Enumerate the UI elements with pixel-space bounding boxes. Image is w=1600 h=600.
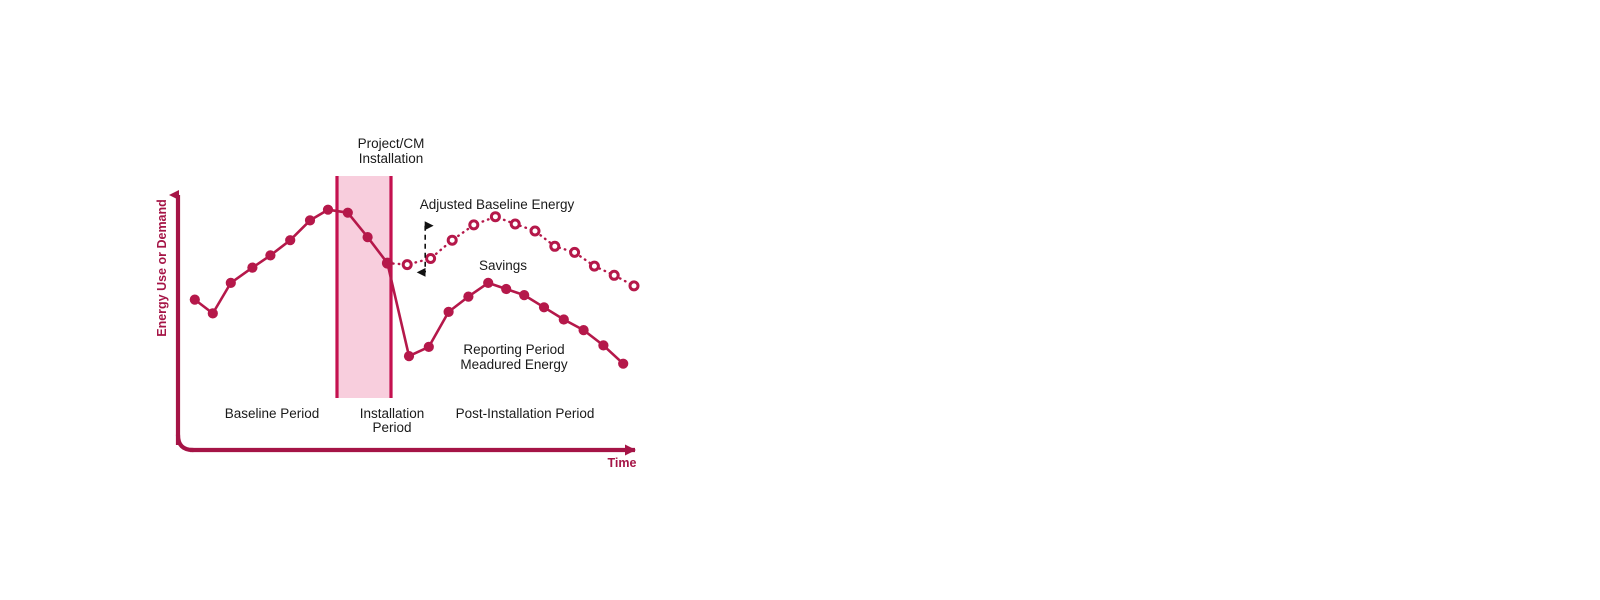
adjusted-baseline-markers xyxy=(383,213,638,290)
data-point xyxy=(247,263,257,273)
data-point xyxy=(519,290,529,300)
data-point xyxy=(226,278,236,288)
installation-period-label-line1: Installation xyxy=(360,406,425,421)
data-point xyxy=(598,340,608,350)
installation-period-label-line2: Period xyxy=(372,420,411,435)
post-installation-period-label: Post-Installation Period xyxy=(456,406,595,421)
data-point xyxy=(579,325,589,335)
y-axis-label: Energy Use or Demand xyxy=(155,199,169,337)
data-point xyxy=(491,213,499,221)
data-point xyxy=(208,308,218,318)
project-cm-label-line2: Installation xyxy=(359,151,424,166)
data-point xyxy=(501,284,511,294)
data-point xyxy=(539,302,549,312)
data-point xyxy=(265,250,275,260)
data-point xyxy=(531,227,539,235)
reporting-energy-label-line2: Meadured Energy xyxy=(460,357,568,372)
data-point xyxy=(404,351,414,361)
data-point xyxy=(427,255,435,263)
data-point xyxy=(483,278,493,288)
data-point xyxy=(285,235,295,245)
data-point xyxy=(424,342,434,352)
data-point xyxy=(444,307,454,317)
measured-energy-line xyxy=(195,210,623,364)
data-point xyxy=(610,271,618,279)
data-point xyxy=(618,359,628,369)
project-cm-label-line1: Project/CM xyxy=(358,136,425,151)
data-point xyxy=(511,220,519,228)
axis-corner xyxy=(178,435,193,450)
data-point xyxy=(571,248,579,256)
reporting-energy-label-line1: Reporting Period xyxy=(463,342,564,357)
data-point xyxy=(323,205,333,215)
data-point xyxy=(305,215,315,225)
data-point xyxy=(363,232,373,242)
data-point xyxy=(590,262,598,270)
data-point xyxy=(190,295,200,305)
savings-label: Savings xyxy=(479,258,527,273)
data-point xyxy=(470,221,478,229)
data-point xyxy=(559,314,569,324)
adjusted-baseline-label: Adjusted Baseline Energy xyxy=(420,197,575,212)
x-axis-label: Time xyxy=(608,456,637,470)
data-point xyxy=(551,242,559,250)
data-point xyxy=(382,258,392,268)
data-point xyxy=(448,236,456,244)
data-point xyxy=(630,282,638,290)
chart-canvas: Energy Use or Demand Time Project/CM Ins… xyxy=(0,0,1600,600)
baseline-period-label: Baseline Period xyxy=(225,406,320,421)
data-point xyxy=(463,292,473,302)
energy-savings-chart: Energy Use or Demand Time Project/CM Ins… xyxy=(0,0,1600,600)
data-point xyxy=(403,261,411,269)
data-point xyxy=(343,208,353,218)
